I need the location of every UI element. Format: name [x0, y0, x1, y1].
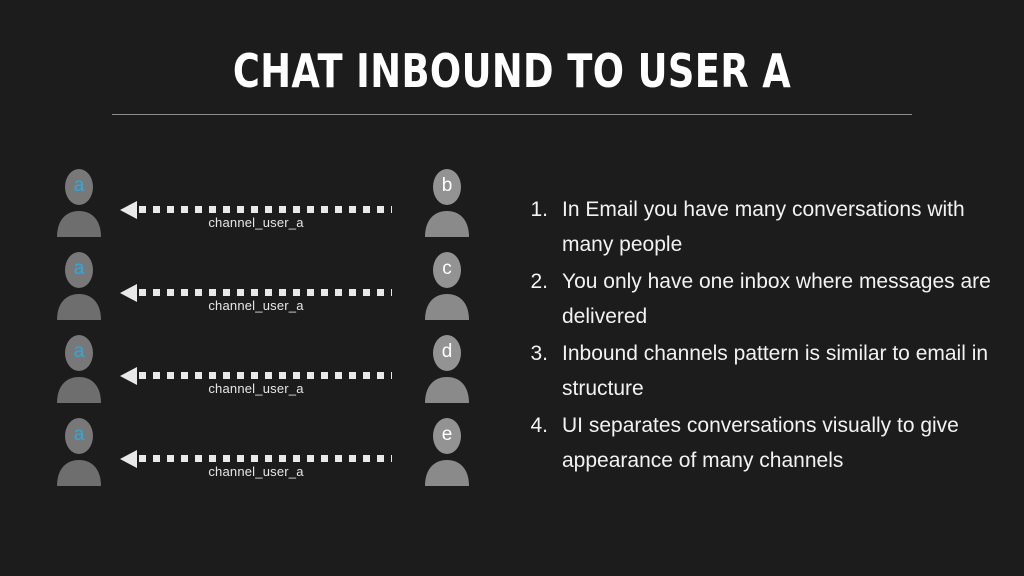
list-item: 1. In Email you have many conversations …	[528, 192, 998, 262]
channel-label: channel_user_a	[120, 464, 392, 479]
person-icon	[49, 414, 109, 486]
list-item-text: Inbound channels pattern is similar to e…	[562, 336, 998, 406]
sender-avatar[interactable]: b	[417, 165, 477, 237]
list-item: 3. Inbound channels pattern is similar t…	[528, 336, 998, 406]
title-block: CHAT INBOUND TO USER A	[112, 44, 912, 98]
message-arrow	[120, 367, 392, 381]
inbound-channel-diagram: a channel_user_a b	[0, 160, 500, 490]
slide-canvas: CHAT INBOUND TO USER A a channel_user_a	[0, 0, 1024, 576]
list-item-number: 1.	[528, 192, 562, 227]
person-icon	[417, 165, 477, 237]
message-arrow	[120, 450, 392, 464]
list-item-text: UI separates conversations visually to g…	[562, 408, 998, 478]
list-item: 4. UI separates conversations visually t…	[528, 408, 998, 478]
sender-avatar[interactable]: d	[417, 331, 477, 403]
dotted-line	[139, 206, 392, 213]
list-item-number: 3.	[528, 336, 562, 371]
list-item-number: 2.	[528, 264, 562, 299]
sender-avatar[interactable]: e	[417, 414, 477, 486]
person-icon	[49, 331, 109, 403]
flow-row: a channel_user_a d	[0, 331, 500, 414]
title-divider	[112, 114, 912, 115]
message-arrow	[120, 201, 392, 215]
dotted-line	[139, 455, 392, 462]
page-title: CHAT INBOUND TO USER A	[192, 44, 832, 98]
recipient-avatar[interactable]: a	[49, 248, 109, 320]
flow-row: a channel_user_a e	[0, 414, 500, 497]
person-icon	[49, 165, 109, 237]
message-arrow	[120, 284, 392, 298]
person-icon	[417, 414, 477, 486]
recipient-avatar[interactable]: a	[49, 414, 109, 486]
recipient-avatar[interactable]: a	[49, 331, 109, 403]
flow-row: a channel_user_a b	[0, 165, 500, 248]
channel-label: channel_user_a	[120, 381, 392, 396]
sender-avatar[interactable]: c	[417, 248, 477, 320]
person-icon	[417, 331, 477, 403]
list-item: 2. You only have one inbox where message…	[528, 264, 998, 334]
list-item-text: In Email you have many conversations wit…	[562, 192, 998, 262]
list-item-number: 4.	[528, 408, 562, 443]
person-icon	[49, 248, 109, 320]
dotted-line	[139, 372, 392, 379]
list-item-text: You only have one inbox where messages a…	[562, 264, 998, 334]
channel-label: channel_user_a	[120, 298, 392, 313]
key-points-list: 1. In Email you have many conversations …	[528, 192, 998, 480]
person-icon	[417, 248, 477, 320]
dotted-line	[139, 289, 392, 296]
channel-label: channel_user_a	[120, 215, 392, 230]
recipient-avatar[interactable]: a	[49, 165, 109, 237]
flow-row: a channel_user_a c	[0, 248, 500, 331]
